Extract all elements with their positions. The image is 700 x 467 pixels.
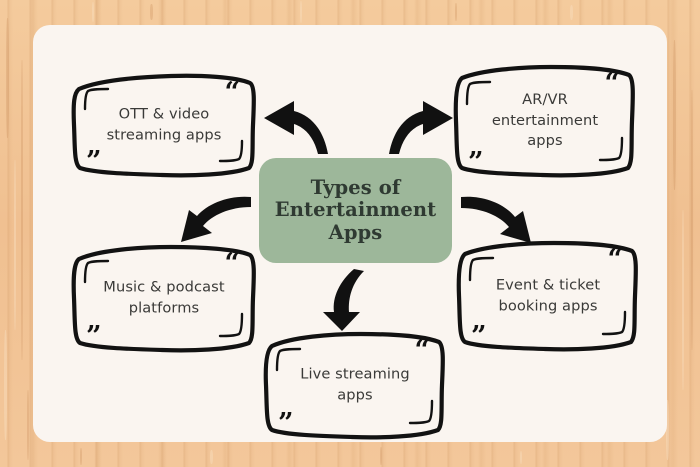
quote-close-icon: ” xyxy=(471,323,487,350)
infographic-canvas: Types of Entertainment Apps “ ” OTT & vi… xyxy=(0,0,700,467)
quote-open-icon: “ xyxy=(224,250,240,277)
card-label-line-2: apps xyxy=(286,385,424,406)
arrow-to-live-streaming-apps xyxy=(318,267,370,333)
card-label: AR/VR entertainment apps xyxy=(452,90,638,152)
card-label-line-2: booking apps xyxy=(479,296,617,317)
center-title-line-2: Entertainment xyxy=(275,199,436,222)
arrow-to-ar-vr-entertainment-apps xyxy=(383,96,459,156)
center-node-title: Types of Entertainment Apps xyxy=(269,177,442,245)
card-label-line-2: streaming apps xyxy=(94,125,234,146)
quote-close-icon: ” xyxy=(86,148,102,175)
card-label-line-1: OTT & video xyxy=(94,104,234,125)
quote-open-icon: “ xyxy=(224,79,240,106)
card-ott-video-streaming-apps[interactable]: “ ” OTT & video streaming apps xyxy=(70,73,258,177)
arrow-to-music-podcast-platforms xyxy=(172,193,254,245)
card-label-line-1: Live streaming xyxy=(286,364,424,385)
card-ar-vr-entertainment-apps[interactable]: “ ” AR/VR entertainment apps xyxy=(452,64,638,178)
quote-close-icon: ” xyxy=(278,410,294,437)
card-label-line-1: Event & ticket xyxy=(479,275,617,296)
arrow-to-ott-video-streaming-apps xyxy=(258,96,334,156)
card-label-line-2: entertainment xyxy=(476,111,614,132)
card-label: Event & ticket booking apps xyxy=(455,275,641,316)
card-label-line-1: Music & podcast xyxy=(94,277,234,298)
center-node-types-of-entertainment-apps[interactable]: Types of Entertainment Apps xyxy=(259,158,452,263)
card-label: OTT & video streaming apps xyxy=(70,104,258,145)
card-music-podcast-platforms[interactable]: “ ” Music & podcast platforms xyxy=(70,244,258,352)
card-label-line-2: platforms xyxy=(94,298,234,319)
quote-open-icon: “ xyxy=(414,337,430,364)
card-live-streaming-apps[interactable]: “ ” Live streaming apps xyxy=(262,331,448,439)
card-label: Music & podcast platforms xyxy=(70,277,258,318)
center-title-line-1: Types of xyxy=(275,177,436,200)
quote-close-icon: ” xyxy=(468,149,484,176)
card-label-line-3: apps xyxy=(476,131,614,152)
card-event-ticket-booking-apps[interactable]: “ ” Event & ticket booking apps xyxy=(455,240,641,352)
quote-close-icon: ” xyxy=(86,323,102,350)
card-label: Live streaming apps xyxy=(262,364,448,405)
quote-open-icon: “ xyxy=(607,246,623,273)
card-label-line-1: AR/VR xyxy=(476,90,614,111)
center-title-line-3: Apps xyxy=(275,222,436,245)
arrow-to-event-ticket-booking-apps xyxy=(458,193,540,247)
